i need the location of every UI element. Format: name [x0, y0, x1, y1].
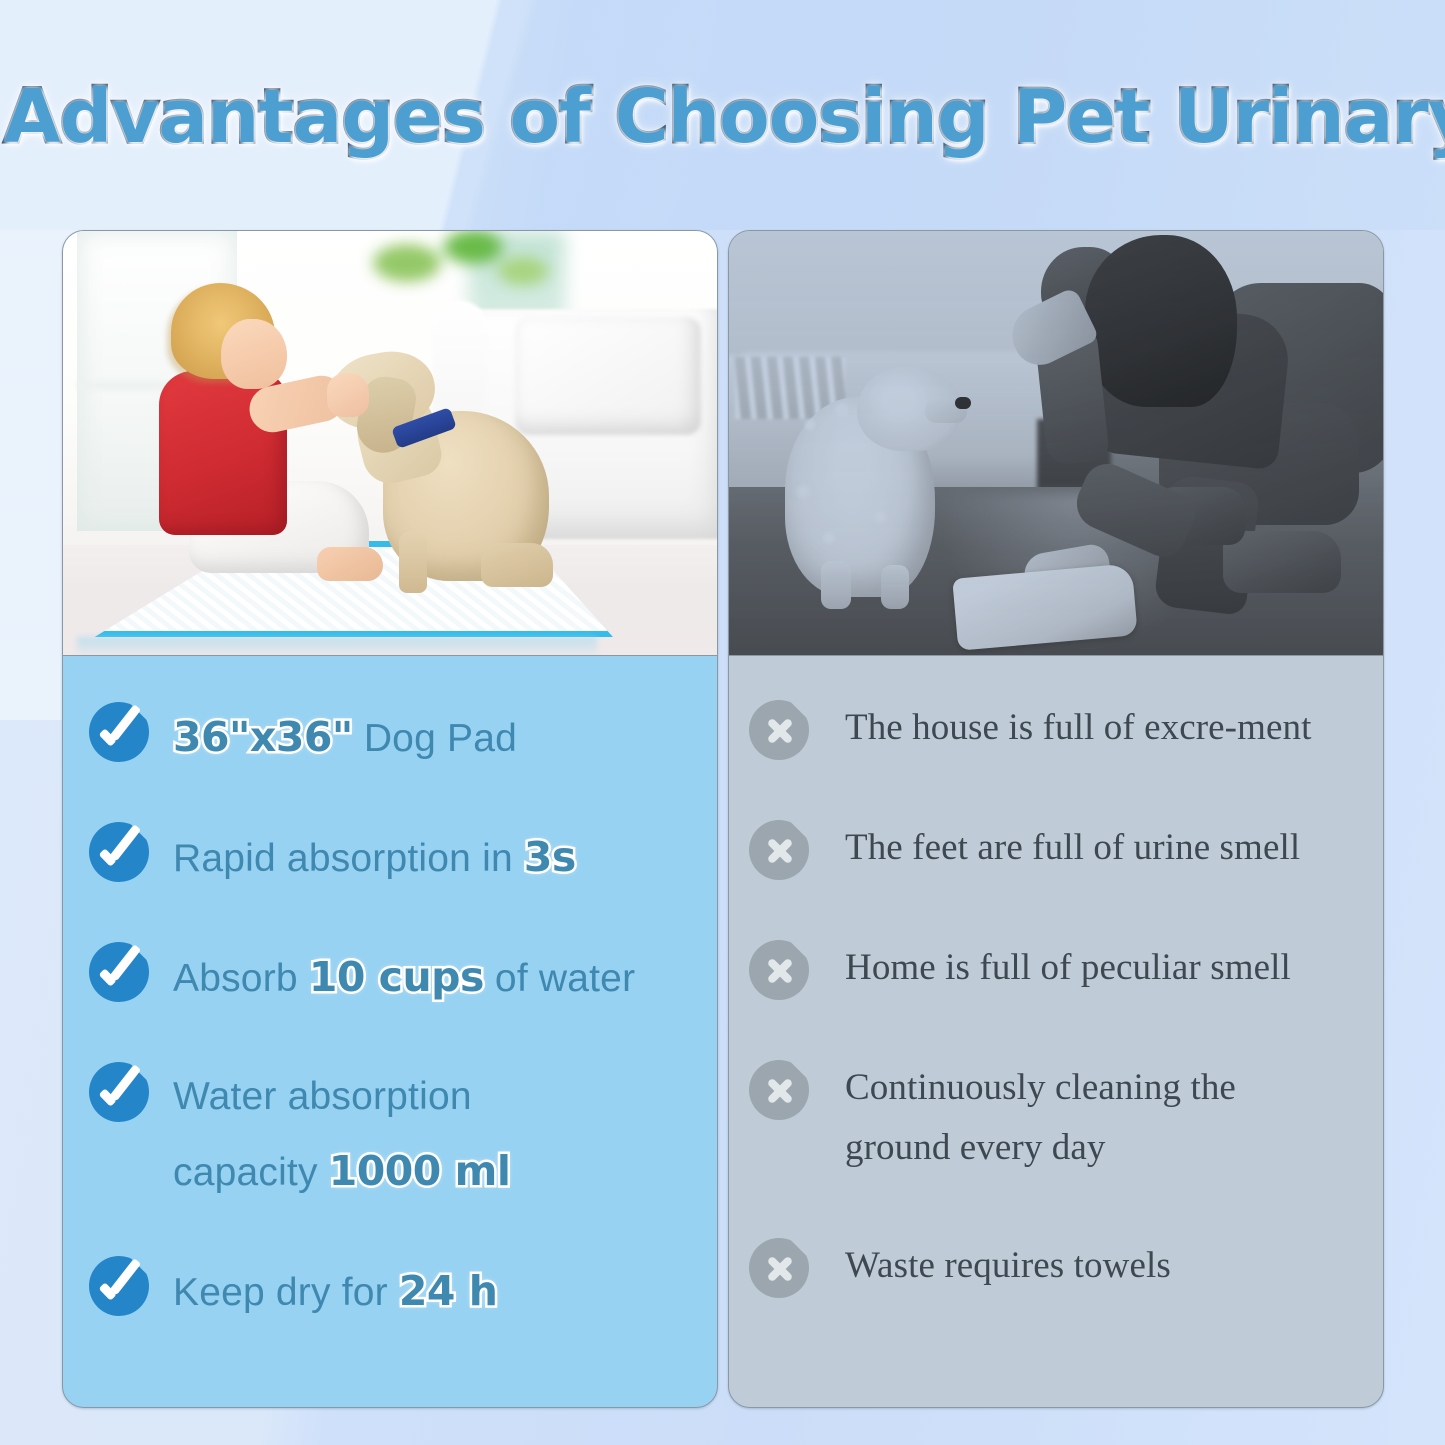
list-item-label: The house is full of excre-ment: [845, 698, 1311, 758]
x-icon: [749, 820, 809, 880]
list-item: Home is full of peculiar smell: [749, 938, 1357, 1000]
list-item: The feet are full of urine smell: [749, 818, 1357, 880]
advantages-list: 36"x36" Dog Pad Rapid absorption in 3s A…: [63, 656, 717, 1407]
list-item: Keep dry for 24 h: [89, 1254, 691, 1330]
disadvantages-panel: The house is full of excre-ment The feet…: [728, 230, 1384, 1408]
list-item-label: Water absorptioncapacity 1000 ml: [173, 1060, 510, 1210]
sofa-cushion-shape: [515, 317, 701, 435]
page-title: Advantages of Choosing Pet Urinary Mats: [4, 74, 1442, 160]
check-icon: [89, 942, 149, 1002]
disadvantages-list: The house is full of excre-ment The feet…: [729, 656, 1383, 1407]
check-icon: [89, 1062, 149, 1122]
white-dog-second-leg-shape: [881, 565, 909, 609]
woman-hair-shape: [1085, 235, 1237, 407]
x-icon: [749, 940, 809, 1000]
list-item: Rapid absorption in 3s: [89, 820, 691, 896]
check-icon: [89, 822, 149, 882]
check-icon: [89, 702, 149, 762]
list-item: Water absorptioncapacity 1000 ml: [89, 1060, 691, 1210]
list-item: 36"x36" Dog Pad: [89, 700, 691, 776]
disadvantages-photo: [729, 231, 1383, 656]
photo-monochrome-scene: [729, 231, 1383, 655]
advantages-photo: [63, 231, 717, 656]
puppy-hind-leg-shape: [481, 543, 553, 587]
white-dog-nose-shape: [955, 397, 971, 409]
list-item-label: Home is full of peculiar smell: [845, 938, 1291, 998]
list-item: Waste requires towels: [749, 1236, 1357, 1298]
list-item-label: Continuously cleaning the ground every d…: [845, 1058, 1315, 1178]
child-hand-shape: [327, 373, 369, 417]
pet-pad-reflection: [77, 637, 597, 656]
child-face-shape: [221, 319, 287, 389]
x-icon: [749, 1060, 809, 1120]
white-dog-front-leg-shape: [821, 561, 851, 609]
x-icon: [749, 700, 809, 760]
infographic-page: Advantages of Choosing Pet Urinary Mats: [0, 0, 1445, 1445]
list-item: Absorb 10 cups of water: [89, 940, 691, 1016]
puppy-front-leg-shape: [399, 531, 427, 593]
list-item-label: Waste requires towels: [845, 1236, 1171, 1296]
list-item-label: Absorb 10 cups of water: [173, 940, 635, 1016]
list-item-label: Keep dry for 24 h: [173, 1254, 497, 1330]
comparison-panels: 36"x36" Dog Pad Rapid absorption in 3s A…: [62, 230, 1384, 1408]
list-item-label: Rapid absorption in 3s: [173, 820, 576, 896]
child-foot-shape: [317, 547, 383, 581]
list-item-label: 36"x36" Dog Pad: [173, 700, 517, 776]
list-item: The house is full of excre-ment: [749, 698, 1357, 760]
check-icon: [89, 1256, 149, 1316]
woman-shoe-shape: [1223, 531, 1341, 593]
advantages-panel: 36"x36" Dog Pad Rapid absorption in 3s A…: [62, 230, 718, 1408]
list-item-label: The feet are full of urine smell: [845, 818, 1300, 878]
x-icon: [749, 1238, 809, 1298]
list-item: Continuously cleaning the ground every d…: [749, 1058, 1357, 1178]
